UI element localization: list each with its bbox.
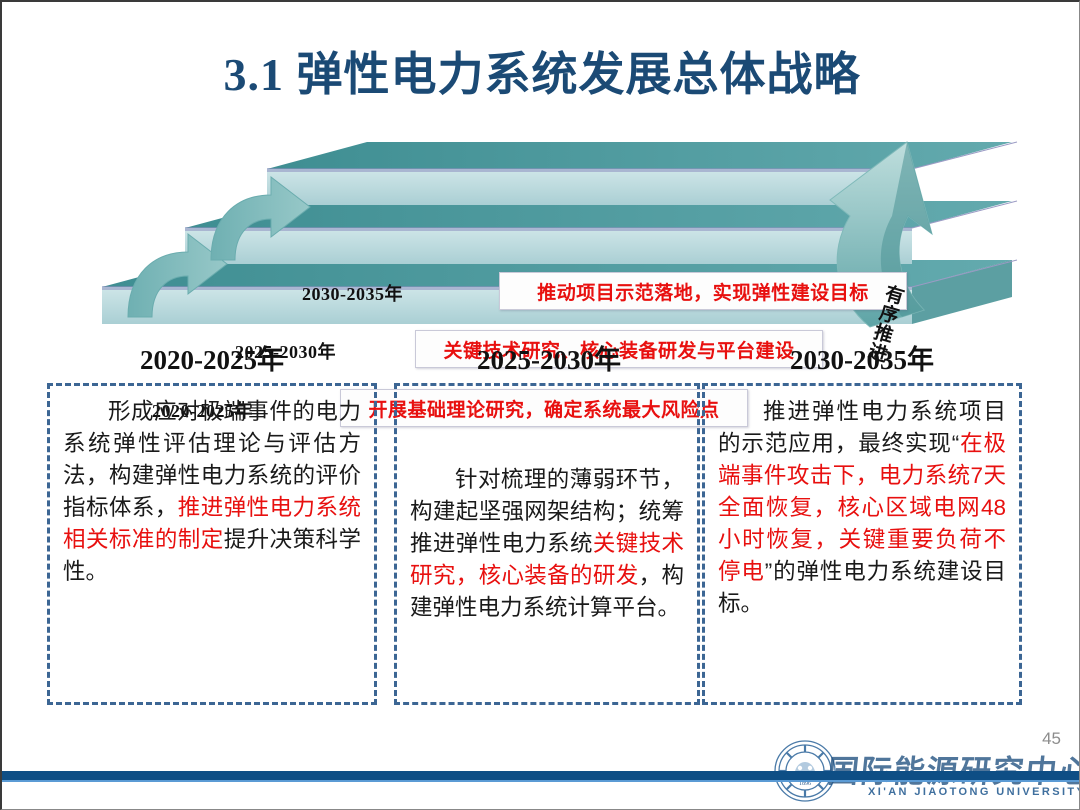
slide-canvas: 3.1 弹性电力系统发展总体战略 xyxy=(0,0,1080,810)
page-title: 3.1 弹性电力系统发展总体战略 xyxy=(2,38,1080,104)
step-year-2030-2035: 2030-2035年 xyxy=(302,280,403,306)
description-box-2020-2025: 形成应对极端事件的电力系统弹性评估理论与评估方法，构建弹性电力系统的评价指标体系… xyxy=(47,383,377,705)
footer-bar-accent xyxy=(2,780,1080,782)
description-box-2025-2030: 针对梳理的薄弱环节，构建起坚强网架结构；统筹推进弹性电力系统关键技术研究，核心装… xyxy=(394,383,700,705)
description-text-2020-2025: 形成应对极端事件的电力系统弹性评估理论与评估方法，构建弹性电力系统的评价指标体系… xyxy=(63,396,361,588)
organization-name-en: XI'AN JIAOTONG UNIVERSITY xyxy=(868,786,1080,798)
footer-bar xyxy=(2,771,1080,780)
step-callout-2030-2035: 推动项目示范落地，实现弹性建设目标 xyxy=(499,272,907,310)
column-heading-2030-2035: 2030-2035年 xyxy=(702,338,1022,377)
column-heading-2025-2030: 2025-2030年 xyxy=(394,338,704,377)
organization-name-cn: 国际能源研究中心 xyxy=(826,746,1080,791)
description-box-2030-2035: 推进弹性电力系统项目的示范应用，最终实现“在极端事件攻击下，电力系统7天全面恢复… xyxy=(702,383,1022,705)
description-text-2025-2030: 针对梳理的薄弱环节，构建起坚强网架结构；统筹推进弹性电力系统关键技术研究，核心装… xyxy=(410,464,684,624)
staircase-diagram: 2030-2035年 2025-2030年 2020-2025年 推动项目示范落… xyxy=(2,112,1080,337)
description-text-2030-2035: 推进弹性电力系统项目的示范应用，最终实现“在极端事件攻击下，电力系统7天全面恢复… xyxy=(718,396,1006,620)
column-heading-2020-2025: 2020-2025年 xyxy=(47,338,377,377)
